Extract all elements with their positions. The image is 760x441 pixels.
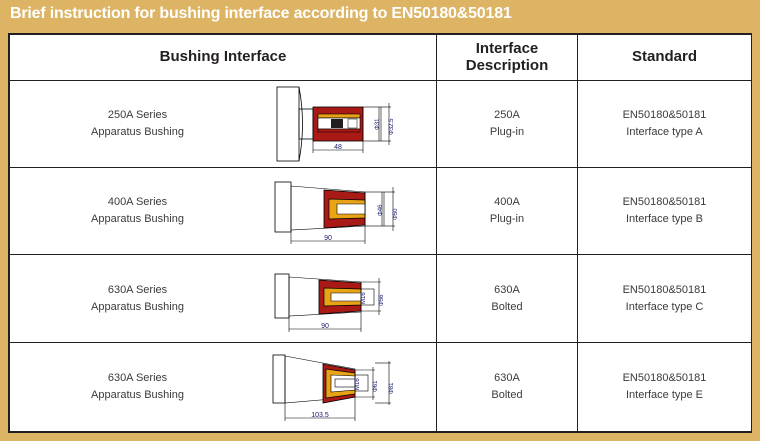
interface-description-line2: Plug-in	[437, 211, 577, 228]
dimension-label: Φ32.5	[389, 118, 395, 135]
dimension-label: Φ46	[378, 204, 384, 216]
bushing-name-line2: Apparatus Bushing	[10, 387, 265, 404]
table-row: 630A Series Apparatus Bushing	[10, 342, 752, 431]
standard-line2: Interface type C	[578, 299, 751, 316]
interface-description-line1: 630A	[437, 370, 577, 387]
standard-line1: EN50180&50181	[578, 282, 751, 299]
column-header-interface-description: Interface Description	[437, 35, 578, 81]
page-title: Brief instruction for bushing interface …	[10, 5, 512, 23]
dimension-label: Φ81	[389, 382, 395, 394]
bushing-name-line1: 400A Series	[10, 194, 265, 211]
standard-line2: Interface type E	[578, 387, 751, 404]
cell-interface-description-630a-e: 630A Bolted	[437, 342, 578, 431]
bushing-name-line1: 630A Series	[10, 282, 265, 299]
column-header-standard: Standard	[578, 35, 752, 81]
cell-bushing-interface-400a: 400A Series Apparatus Bushing	[10, 168, 437, 255]
cell-interface-description-250a: 250A Plug-in	[437, 81, 578, 168]
dimension-label: 90	[324, 235, 332, 242]
dimension-label: M16	[361, 291, 367, 303]
column-header-interface-description-line1: Interface	[437, 41, 577, 58]
cell-bushing-interface-250a: 250A Series Apparatus Bushing	[10, 81, 437, 168]
cell-standard-630a-c: EN50180&50181 Interface type C	[578, 255, 752, 342]
standard-line2: Interface type A	[578, 124, 751, 141]
table-header-row: Bushing Interface Interface Description …	[10, 35, 752, 81]
drawing-container-400a: Φ46 Φ50 90	[265, 168, 436, 254]
drawing-container-630a-e: M16 Φ61 Φ81	[265, 343, 439, 431]
cell-standard-400a: EN50180&50181 Interface type B	[578, 168, 752, 255]
drawing-container-630a-c: M16 Φ56 90	[265, 255, 436, 341]
630a-type-c-bushing-drawing: M16 Φ56 90	[269, 258, 434, 340]
dimension-label: Φ50	[393, 208, 399, 220]
dimension-label: Φ56	[379, 293, 385, 305]
drawing-container-250a: Φ31 Φ32.5 48	[265, 81, 436, 167]
dimension-label: 90	[321, 323, 329, 330]
standard-line1: EN50180&50181	[578, 194, 751, 211]
standard-line2: Interface type B	[578, 211, 751, 228]
table-row: 400A Series Apparatus Bushing	[10, 168, 752, 255]
bushing-name-630a-c: 630A Series Apparatus Bushing	[10, 282, 265, 316]
bushing-name-400a: 400A Series Apparatus Bushing	[10, 194, 265, 228]
interface-description-line1: 630A	[437, 282, 577, 299]
column-header-bushing-interface: Bushing Interface	[10, 35, 437, 81]
dimension-label: Φ61	[373, 380, 379, 392]
630a-type-e-bushing-drawing: M16 Φ61 Φ81	[269, 345, 439, 429]
cell-interface-description-400a: 400A Plug-in	[437, 168, 578, 255]
bushing-name-line1: 630A Series	[10, 370, 265, 387]
cell-standard-630a-e: EN50180&50181 Interface type E	[578, 342, 752, 431]
bushing-name-line2: Apparatus Bushing	[10, 124, 265, 141]
interface-description-line1: 400A	[437, 194, 577, 211]
column-header-interface-description-line2: Description	[437, 58, 577, 75]
standard-line1: EN50180&50181	[578, 107, 751, 124]
standard-line1: EN50180&50181	[578, 370, 751, 387]
dimension-label: 103.5	[311, 412, 329, 419]
250a-bushing-drawing: Φ31 Φ32.5 48	[269, 83, 429, 165]
bushing-name-250a: 250A Series Apparatus Bushing	[10, 107, 265, 141]
bushing-interface-table: Bushing Interface Interface Description …	[9, 34, 752, 432]
bushing-interface-table-wrapper: Bushing Interface Interface Description …	[8, 33, 752, 433]
bushing-name-line2: Apparatus Bushing	[10, 211, 265, 228]
interface-description-line2: Bolted	[437, 387, 577, 404]
400a-bushing-drawing: Φ46 Φ50 90	[269, 170, 434, 252]
dimension-label: 48	[334, 144, 342, 151]
interface-description-line2: Plug-in	[437, 124, 577, 141]
page-root: Brief instruction for bushing interface …	[0, 0, 760, 441]
dimension-label: M16	[355, 377, 361, 389]
cell-bushing-interface-630a-e: 630A Series Apparatus Bushing	[10, 342, 437, 431]
cell-interface-description-630a-c: 630A Bolted	[437, 255, 578, 342]
cell-bushing-interface-630a-c: 630A Series Apparatus Bushing	[10, 255, 437, 342]
interface-description-line1: 250A	[437, 107, 577, 124]
table-row: 250A Series Apparatus Bushing	[10, 81, 752, 168]
bushing-name-line2: Apparatus Bushing	[10, 299, 265, 316]
table-row: 630A Series Apparatus Bushing	[10, 255, 752, 342]
bushing-name-line1: 250A Series	[10, 107, 265, 124]
dimension-label: Φ31	[375, 118, 381, 130]
cell-standard-250a: EN50180&50181 Interface type A	[578, 81, 752, 168]
interface-description-line2: Bolted	[437, 299, 577, 316]
bushing-name-630a-e: 630A Series Apparatus Bushing	[10, 370, 265, 404]
